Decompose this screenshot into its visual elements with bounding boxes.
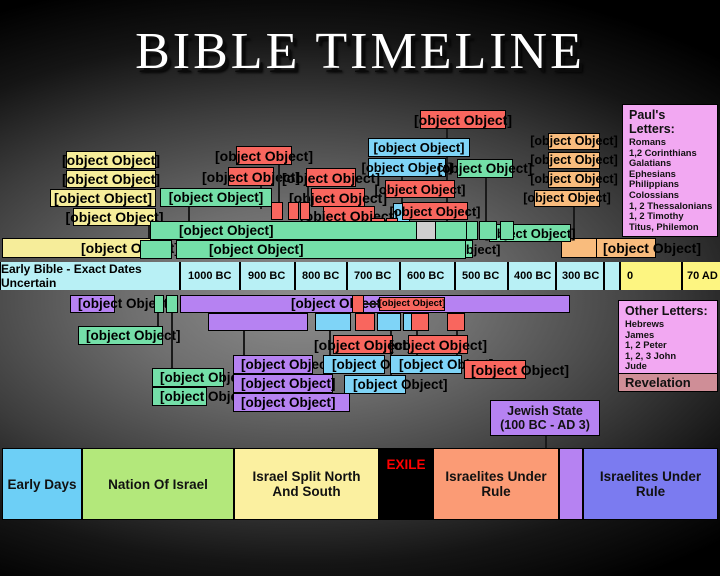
prophet-stub [271, 202, 283, 220]
prophet-jonah: [object Object] [236, 146, 292, 165]
book-1-2-kings-bar: [object Object] [176, 240, 466, 259]
book-ruth: [object Object] [152, 387, 207, 406]
prophet-habakkuk: [object Object] [385, 180, 455, 198]
prophet-marker [411, 313, 429, 331]
prophet-zechariah: [object Object] [420, 110, 506, 129]
era-exile: EXILE [379, 448, 433, 520]
axis-uncertain: Early Bible - Exact Dates Uncertain [0, 262, 180, 290]
prophet-lamentations: [object Object] [368, 138, 470, 157]
book-luke: [object Object] [548, 152, 600, 169]
pauls-letters-heading: Paul's Letters: [629, 108, 712, 136]
book-matthew: [object Object] [534, 190, 600, 207]
prophet-nahum: [object Object] [333, 335, 393, 354]
page-title: BIBLE TIMELINE [0, 22, 720, 81]
prophet-marker [355, 313, 375, 331]
pauls-letters-panel: Paul's Letters: Romans 1,2 Corinthians G… [622, 104, 718, 237]
axis-tick-900bc: 900 BC [240, 262, 295, 290]
book-exodus: [object Object] [73, 208, 156, 226]
prophet-ezekiel: [object Object] [344, 375, 406, 394]
book-1-2-samuel: [object Object] [160, 188, 272, 207]
book-acts-label: [object Object] [596, 238, 656, 258]
prophet-joel: [object Object] [228, 167, 274, 186]
connector-zephaniah [364, 303, 380, 305]
book-genesis-bar: [object Object] [2, 238, 157, 258]
prophet-marker [447, 313, 465, 331]
other-letters-heading: Other Letters: [625, 304, 712, 318]
prophet-daniel: [object Object] [390, 355, 462, 374]
prophet-marker [315, 313, 351, 331]
axis-tick-500bc: 500 BC [455, 262, 508, 290]
prophet-marker [377, 313, 401, 331]
era-israelites-under-rule-roman: Israelites Under Rule [583, 448, 718, 520]
prophet-zephaniah: [object Object] [379, 297, 445, 311]
axis-tick-300bc: 300 BC [556, 262, 604, 290]
pauls-letters-item: Titus, Philemon [629, 222, 712, 233]
book-deutonomy: [object Object] [50, 189, 156, 207]
history-stub [416, 221, 436, 240]
prophet-malachi: [object Object] [464, 360, 526, 379]
book-joshua: [object Object] [78, 326, 163, 345]
axis-tick-800bc: 800 BC [295, 262, 347, 290]
history-stub [479, 221, 497, 240]
book-numbers: [object Object] [66, 170, 156, 188]
axis-gap [604, 262, 620, 290]
jewish-state-line1: Jewish State [507, 404, 583, 418]
jewish-state-line2: (100 BC - AD 3) [500, 418, 590, 432]
book-ecclesiastes: [object Object] [233, 374, 333, 393]
psalms-stub [166, 295, 178, 313]
book-mark: [object Object] [548, 171, 600, 188]
era-nation-of-israel: Nation Of Israel [82, 448, 234, 520]
era-israel-split: Israel Split North And South [234, 448, 379, 520]
psalms-stub [154, 295, 164, 313]
book-esther: [object Object] [457, 159, 513, 178]
axis-tick-70ad: 70 AD [682, 262, 720, 290]
book-song-of-songs: [object Object] [233, 393, 350, 412]
revelation-bar: Revelation [618, 373, 718, 392]
bible-timeline-poster: BIBLE TIMELINE Paul's Letters: Romans 1,… [0, 0, 720, 576]
axis-tick-700bc: 700 BC [347, 262, 400, 290]
axis-tick-600bc: 600 BC [400, 262, 455, 290]
book-job: [object Object] [70, 295, 115, 313]
wisdom-block [208, 313, 308, 331]
prophet-haggai: [object Object] [408, 335, 468, 354]
era-early-days: Early Days [2, 448, 82, 520]
prophet-hosea: [object Object] [311, 188, 365, 207]
pauls-letters-item: Romans [629, 137, 712, 148]
book-judges: [object Object] [152, 368, 224, 387]
axis-tick-1000bc: 1000 BC [180, 262, 240, 290]
pauls-letters-item: Colossians [629, 190, 712, 201]
prophet-obadiah: [object Object] [402, 202, 468, 220]
book-leviticus: [object Object] [66, 151, 156, 169]
era-israelites-under-rule-greek: Israelites Under Rule [433, 448, 559, 520]
prophet-zephaniah-marker [352, 295, 364, 313]
prophet-stub [288, 202, 299, 220]
book-john: [object Object] [548, 133, 600, 150]
book-proverbs: [object Object] [233, 355, 313, 374]
prophet-stub [300, 202, 310, 220]
jewish-state-box: Jewish State (100 BC - AD 3) [490, 400, 600, 436]
axis-tick-zero: 0 [620, 262, 682, 290]
history-stub [140, 240, 172, 259]
axis-tick-400bc: 400 BC [508, 262, 556, 290]
history-stub [466, 221, 478, 240]
prophet-isaiah: [object Object] [323, 355, 385, 374]
era-jewish-state-segment [559, 448, 583, 520]
prophet-amos: [object Object] [306, 168, 356, 187]
other-letters-item: Jude [625, 361, 712, 372]
connector-proverbs [243, 331, 245, 356]
other-letters-panel: Other Letters: Hebrews James 1, 2 Peter … [618, 300, 718, 377]
other-letters-item: Hebrews [625, 319, 712, 330]
connector-judges [171, 313, 173, 368]
history-stub [500, 221, 514, 240]
